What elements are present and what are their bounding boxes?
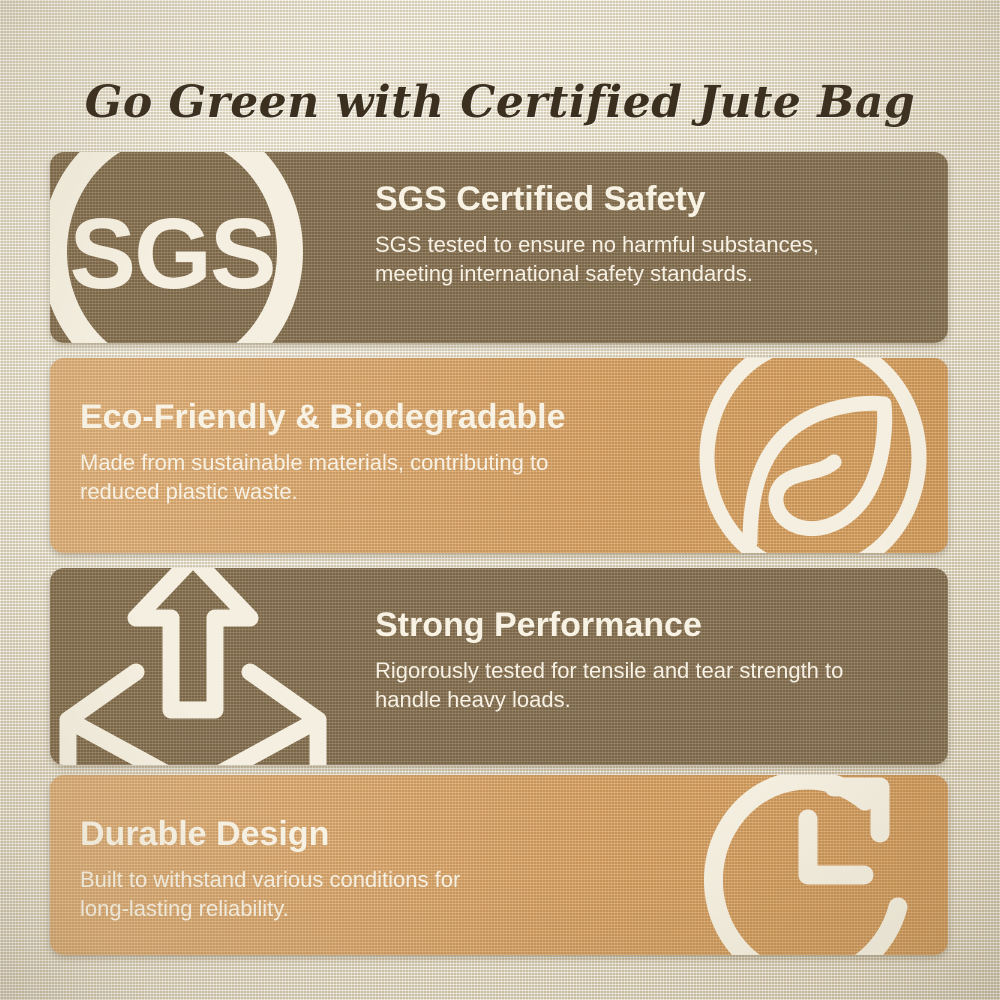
feature-card-sgs-certified-safety[interactable]: SGS SGS Certified Safety SGS tested to e… [50,152,948,343]
card-body-line: Built to withstand various conditions fo… [80,865,680,895]
card-body: Rigorously tested for tensile and tear s… [375,656,948,715]
card-body-line: Rigorously tested for tensile and tear s… [375,656,948,686]
card-body: SGS tested to ensure no harmful substanc… [375,230,935,289]
arrow-out-of-box-icon [58,568,328,765]
leaf-in-circle-icon [688,358,938,553]
card-title: Eco-Friendly & Biodegradable [80,400,700,436]
feature-card-durable-design[interactable]: Durable Design Built to withstand variou… [50,775,948,955]
card-body-line: meeting international safety standards. [375,259,935,289]
sgs-logo-icon: SGS [50,152,344,343]
card-body: Made from sustainable materials, contrib… [80,448,700,507]
card-title: Durable Design [80,817,680,853]
card-title: SGS Certified Safety [375,182,935,218]
feature-card-eco-friendly-biodegradable[interactable]: Eco-Friendly & Biodegradable Made from s… [50,358,948,553]
page-title: Go Green with Certified Jute Bag [0,77,1000,128]
poster-root: Go Green with Certified Jute Bag SGS SGS… [0,0,1000,1000]
card-text-block: Strong Performance Rigorously tested for… [375,608,948,715]
card-body-line: long-lasting reliability. [80,894,680,924]
card-text-block: Eco-Friendly & Biodegradable Made from s… [80,400,700,507]
card-body-line: SGS tested to ensure no harmful substanc… [375,230,935,260]
card-text-block: Durable Design Built to withstand variou… [80,817,680,924]
card-body-line: reduced plastic waste. [80,477,700,507]
card-text-block: SGS Certified Safety SGS tested to ensur… [375,182,935,289]
feature-card-strong-performance[interactable]: Strong Performance Rigorously tested for… [50,568,948,765]
clock-history-icon [684,775,944,955]
card-body-line: Made from sustainable materials, contrib… [80,448,700,478]
svg-text:SGS: SGS [69,198,274,310]
card-body: Built to withstand various conditions fo… [80,865,680,924]
card-body-line: handle heavy loads. [375,685,948,715]
card-title: Strong Performance [375,608,948,644]
